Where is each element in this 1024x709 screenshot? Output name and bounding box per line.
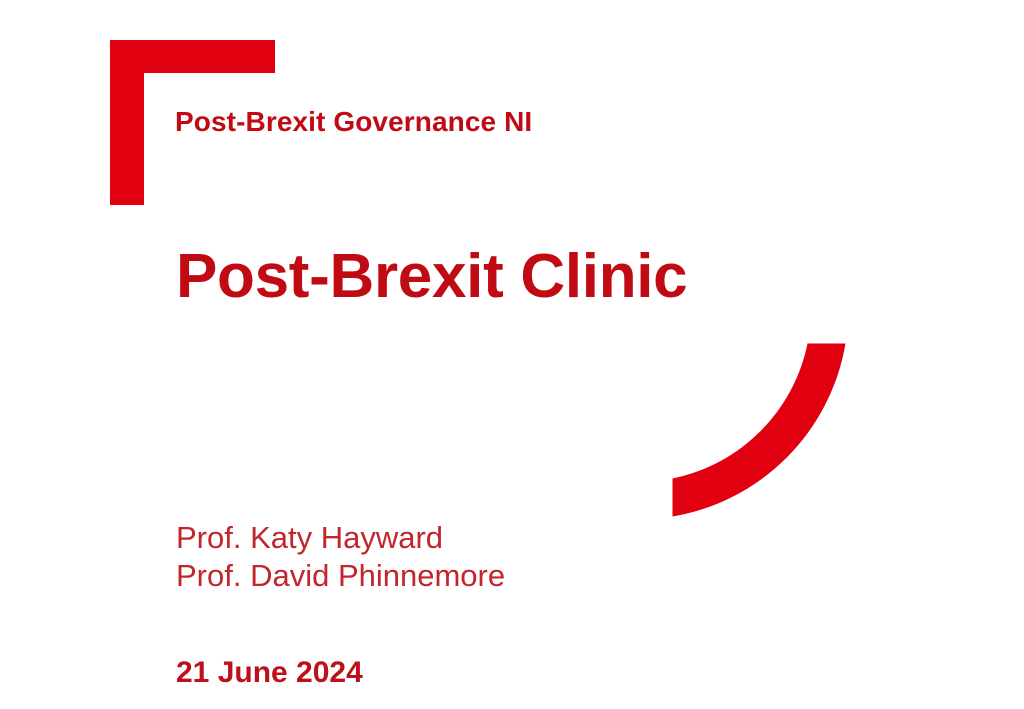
brand-title: Post-Brexit Governance NI — [175, 106, 532, 138]
presenter-name: Prof. Katy Hayward — [176, 519, 505, 557]
quarter-arc-svg — [672, 343, 846, 517]
corner-bracket-horizontal-arm — [110, 40, 275, 73]
presenter-name: Prof. David Phinnemore — [176, 557, 505, 595]
corner-bracket-vertical-arm — [110, 40, 144, 205]
presentation-date: 21 June 2024 — [176, 656, 363, 690]
page-title: Post-Brexit Clinic — [176, 241, 687, 312]
presenter-list: Prof. Katy Hayward Prof. David Phinnemor… — [176, 519, 505, 595]
presentation-slide: Post-Brexit Governance NI Post-Brexit Cl… — [0, 0, 1024, 709]
quarter-arc-path — [673, 344, 846, 517]
quarter-arc-icon — [672, 343, 846, 517]
